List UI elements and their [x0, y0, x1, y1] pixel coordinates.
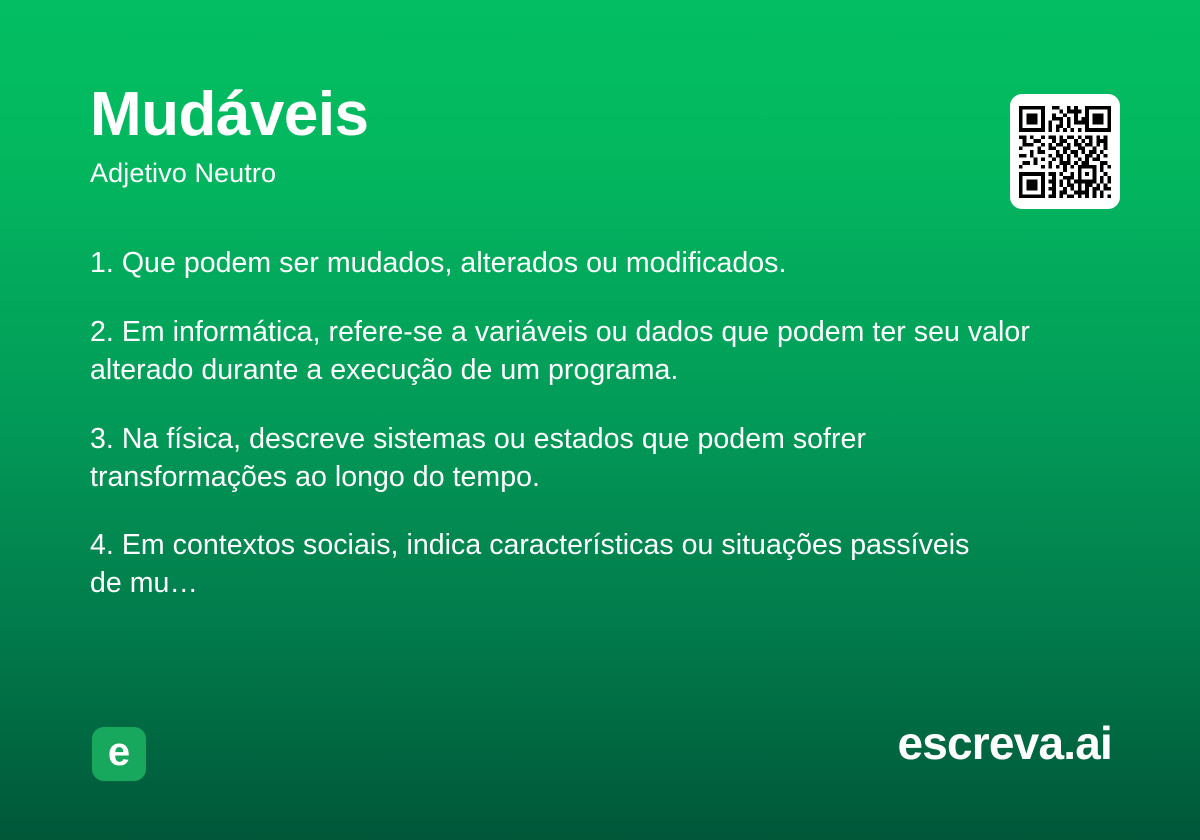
card-footer: e escreva.ai	[0, 700, 1200, 840]
definition-item: 3. Na física, descreve sistemas ou estad…	[90, 421, 1040, 497]
qr-code[interactable]	[1010, 94, 1120, 209]
page-title: Mudáveis	[90, 84, 1110, 146]
definition-item: 4. Em contextos sociais, indica caracter…	[90, 527, 1005, 603]
escreva-logo-icon: e	[92, 727, 146, 781]
definition-list: 1. Que podem ser mudados, alterados ou m…	[90, 245, 1105, 603]
brand-name: escreva.ai	[897, 720, 1112, 766]
qr-code-icon	[1019, 106, 1111, 198]
definition-item: 2. Em informática, refere-se a variáveis…	[90, 314, 1105, 390]
definition-item: 1. Que podem ser mudados, alterados ou m…	[90, 245, 1105, 283]
word-class-subtitle: Adjetivo Neutro	[90, 160, 1110, 187]
definition-card: Mudáveis Adjetivo Neutro	[0, 0, 1200, 840]
logo-letter: e	[108, 732, 130, 772]
card-header: Mudáveis Adjetivo Neutro	[90, 84, 1110, 214]
